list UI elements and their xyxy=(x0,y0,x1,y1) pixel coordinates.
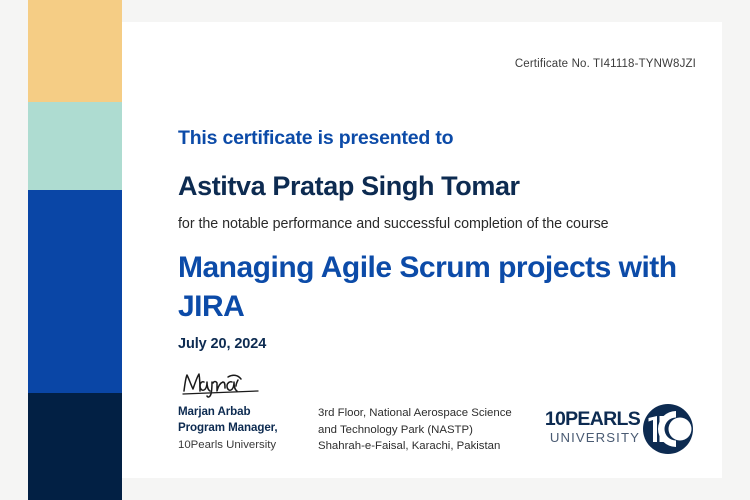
signature-block: Marjan Arbab Program Manager, 10Pearls U… xyxy=(178,370,328,453)
color-bar-segment-mint xyxy=(28,102,122,190)
certificate-content-panel: Certificate No. TI41118-TYNW8JZI This ce… xyxy=(122,22,722,478)
logo-subtitle: UNIVERSITY xyxy=(532,430,640,445)
handwritten-signature-icon xyxy=(180,370,264,400)
color-bar-segment-blue xyxy=(28,190,122,393)
signer-title: Program Manager, xyxy=(178,420,328,436)
presented-to-heading: This certificate is presented to xyxy=(178,127,453,150)
course-title: Managing Agile Scrum projects with JIRA xyxy=(178,248,678,326)
logo-name: 10PEARLS xyxy=(532,409,640,430)
brand-logo: 10PEARLS UNIVERSITY xyxy=(532,403,697,455)
address-block: 3rd Floor, National Aerospace Science an… xyxy=(318,405,518,455)
address-line: Shahrah-e-Faisal, Karachi, Pakistan xyxy=(318,438,518,455)
logo-wordmark: 10PEARLS UNIVERSITY xyxy=(532,409,640,445)
decorative-color-bar xyxy=(28,0,122,500)
ten-pearls-circle-logo-icon xyxy=(640,403,696,455)
certificate-number: Certificate No. TI41118-TYNW8JZI xyxy=(515,58,696,70)
issue-date: July 20, 2024 xyxy=(178,336,266,352)
citation-text: for the notable performance and successf… xyxy=(178,216,609,232)
signer-organization: 10Pearls University xyxy=(178,437,328,453)
address-line: 3rd Floor, National Aerospace Science xyxy=(318,405,518,422)
recipient-name: Astitva Pratap Singh Tomar xyxy=(178,171,520,202)
signer-name: Marjan Arbab xyxy=(178,404,328,420)
color-bar-segment-gold xyxy=(28,0,122,102)
address-line: and Technology Park (NASTP) xyxy=(318,422,518,439)
color-bar-segment-navy xyxy=(28,393,122,500)
